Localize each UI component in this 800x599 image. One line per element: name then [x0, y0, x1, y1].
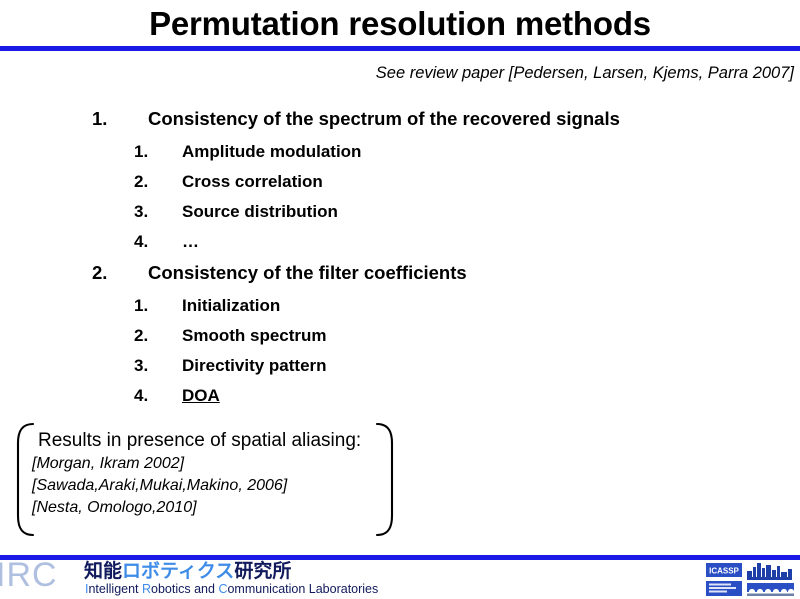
outline-number: 3. — [134, 202, 156, 222]
slide-canvas: Permutation resolution methods See revie… — [0, 0, 800, 599]
outline-number: 4. — [134, 386, 156, 406]
outline-label: … — [182, 232, 199, 252]
outline-number: 3. — [134, 356, 156, 376]
results-callout: Results in presence of spatial aliasing:… — [14, 421, 396, 538]
outline-item-level1: 2. Consistency of the filter coefficient… — [0, 262, 800, 296]
irc-jp-part2: ロボティクス — [122, 561, 234, 582]
outline-label: Directivity pattern — [182, 356, 327, 376]
outline-item-level2: 1. Initialization — [0, 296, 800, 326]
outline-number: 1. — [92, 108, 116, 130]
outline-item-level1: 1. Consistency of the spectrum of the re… — [0, 108, 800, 142]
irc-en-seg3: ommunication Laboratories — [227, 582, 378, 596]
outline-number: 2. — [134, 326, 156, 346]
citation-item: [Morgan, Ikram 2002] — [32, 453, 376, 475]
icassp-logo: ICASSP — [706, 561, 796, 598]
title-divider — [0, 46, 800, 51]
irc-japanese-name: 知能ロボティクス研究所 — [84, 561, 291, 582]
irc-jp-part1: 知能 — [84, 561, 122, 582]
irc-wordmark: IRC — [0, 558, 58, 592]
citation-item: [Sawada,Araki,Mukai,Makino, 2006] — [32, 475, 376, 497]
results-heading: Results in presence of spatial aliasing: — [32, 429, 376, 453]
outline-label: Amplitude modulation — [182, 142, 361, 162]
irc-logo: IRC 知能ロボティクス研究所 Intelligent Robotics and… — [0, 560, 470, 599]
page-title: Permutation resolution methods — [0, 4, 800, 44]
outline-label: Cross correlation — [182, 172, 323, 192]
outline-list: 1. Consistency of the spectrum of the re… — [0, 108, 800, 416]
right-bracket-icon — [374, 421, 396, 538]
outline-label: Smooth spectrum — [182, 326, 327, 346]
irc-english-name: Intelligent Robotics and Communication L… — [85, 582, 378, 596]
outline-label: Consistency of the spectrum of the recov… — [148, 108, 620, 130]
outline-label: Consistency of the filter coefficients — [148, 262, 467, 284]
outline-label-doa: DOA — [182, 386, 220, 406]
svg-text:ICASSP: ICASSP — [709, 567, 739, 576]
outline-item-level2: 2. Smooth spectrum — [0, 326, 800, 356]
outline-item-level2: 4. DOA — [0, 386, 800, 416]
outline-number: 1. — [134, 142, 156, 162]
outline-item-level2: 4. … — [0, 232, 800, 262]
slide-subtitle: See review paper [Pedersen, Larsen, Kjem… — [376, 64, 794, 83]
outline-item-level2: 1. Amplitude modulation — [0, 142, 800, 172]
outline-number: 4. — [134, 232, 156, 252]
outline-item-level2: 3. Source distribution — [0, 202, 800, 232]
results-content: Results in presence of spatial aliasing:… — [32, 429, 376, 519]
outline-number: 2. — [134, 172, 156, 192]
outline-number: 2. — [92, 262, 116, 284]
irc-jp-part3: 研究所 — [234, 561, 291, 582]
outline-item-level2: 3. Directivity pattern — [0, 356, 800, 386]
outline-label: Initialization — [182, 296, 280, 316]
citation-item: [Nesta, Omologo,2010] — [32, 497, 376, 519]
footer-bar: IRC 知能ロボティクス研究所 Intelligent Robotics and… — [0, 560, 800, 599]
irc-en-seg1: ntelligent — [88, 582, 142, 596]
outline-item-level2: 2. Cross correlation — [0, 172, 800, 202]
irc-en-seg2: obotics and — [151, 582, 218, 596]
outline-label: Source distribution — [182, 202, 338, 222]
outline-number: 1. — [134, 296, 156, 316]
irc-en-r: R — [142, 582, 151, 596]
